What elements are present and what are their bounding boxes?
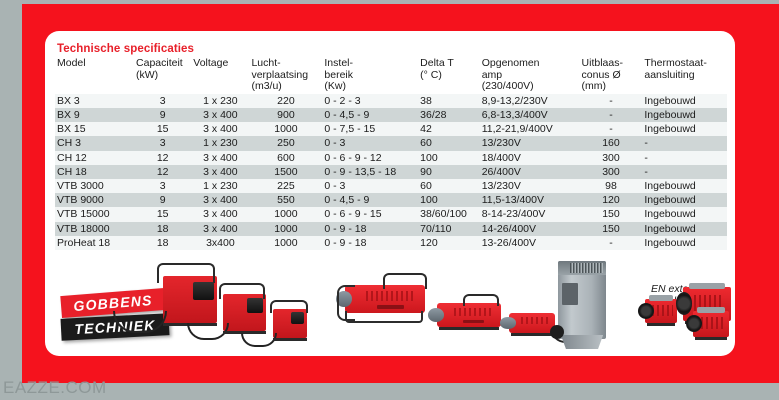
cell-model: BX 15 — [55, 122, 134, 136]
cell-voltage: 3 x 400 — [191, 122, 249, 136]
column-header-voltage: Voltage — [191, 58, 249, 94]
ch-large-badge — [377, 305, 404, 309]
vtb-front-foot — [695, 337, 727, 340]
ch-large-handle — [383, 273, 427, 289]
cell-uitblaasconus: 98 — [580, 179, 643, 193]
cell-delta-t: 100 — [418, 193, 480, 207]
ch-small-vents — [521, 317, 550, 324]
cell-uitblaasconus: 300 — [580, 165, 643, 179]
bx-small-handle — [270, 300, 308, 313]
cell-uitblaasconus: 150 — [580, 207, 643, 221]
cell-capaciteit: 9 — [134, 193, 191, 207]
cell-luchtverplaatsing: 1000 — [249, 122, 322, 136]
cell-opgenomen-amp: 13/230V — [480, 179, 580, 193]
cell-capaciteit: 15 — [134, 122, 191, 136]
vtb-left-foot — [647, 323, 675, 326]
table-body: BX 331 x 2302200 - 2 - 3388,9-13,2/230V-… — [55, 94, 727, 250]
vtb-large-fan — [676, 292, 692, 314]
product-ch-medium — [437, 303, 501, 327]
cell-instelbereik: 0 - 9 - 13,5 - 18 — [322, 165, 418, 179]
bx-small-foot — [273, 338, 307, 341]
cell-delta-t: 60 — [418, 179, 480, 193]
column-header-thermostaataansluiting: Thermostaat- aansluiting — [642, 58, 727, 94]
cell-capaciteit: 15 — [134, 207, 191, 221]
cell-opgenomen-amp: 8,9-13,2/230V — [480, 94, 580, 108]
cell-opgenomen-amp: 26/400V — [480, 165, 580, 179]
table-row: BX 15153 x 40010000 - 7,5 - 154211,2-21,… — [55, 122, 727, 136]
cell-luchtverplaatsing: 1000 — [249, 236, 322, 250]
cell-instelbereik: 0 - 7,5 - 15 — [322, 122, 418, 136]
cell-voltage: 1 x 230 — [191, 136, 249, 150]
product-bx-large — [163, 276, 217, 323]
ch-large-vents — [366, 291, 416, 301]
cell-uitblaasconus: - — [580, 108, 643, 122]
cell-voltage: 1 x 230 — [191, 94, 249, 108]
column-header-model: Model — [55, 58, 134, 94]
cell-thermostaataansluiting: Ingebouwd — [642, 207, 727, 221]
table-row: CH 18123 x 40015000 - 9 - 13,5 - 189026/… — [55, 165, 727, 179]
cell-thermostaataansluiting: Ingebouwd — [642, 122, 727, 136]
table-header-row: Model Capaciteit (kW) Voltage Lucht- ver… — [55, 58, 727, 94]
cell-delta-t: 38/60/100 — [418, 207, 480, 221]
column-header-capaciteit: Capaciteit (kW) — [134, 58, 191, 94]
cell-instelbereik: 0 - 3 — [322, 179, 418, 193]
page-root: Technische specificaties Model Capacitei… — [0, 0, 779, 400]
cell-model: CH 18 — [55, 165, 134, 179]
cell-capaciteit: 12 — [134, 151, 191, 165]
product-ch-large — [345, 285, 425, 313]
cell-capaciteit: 18 — [134, 236, 191, 250]
cell-capaciteit: 3 — [134, 179, 191, 193]
ch-large-stand-base — [345, 311, 423, 323]
cell-voltage: 3x400 — [191, 236, 249, 250]
cell-model: CH 12 — [55, 151, 134, 165]
content-panel: Technische specificaties Model Capacitei… — [45, 31, 735, 356]
cell-delta-t: 100 — [418, 151, 480, 165]
column-header-instelbereik: Instel- bereik (Kw) — [322, 58, 418, 94]
cell-thermostaataansluiting: Ingebouwd — [642, 193, 727, 207]
cell-opgenomen-amp: 13-26/400V — [480, 236, 580, 250]
cell-voltage: 3 x 400 — [191, 193, 249, 207]
bx-small-cord — [241, 333, 277, 347]
cell-luchtverplaatsing: 225 — [249, 179, 322, 193]
bx-large-cord — [113, 311, 167, 333]
cell-delta-t: 70/110 — [418, 222, 480, 236]
vtb-large-rail — [689, 283, 725, 289]
cell-instelbereik: 0 - 4,5 - 9 — [322, 193, 418, 207]
cell-opgenomen-amp: 8-14-23/400V — [480, 207, 580, 221]
product-ch-small — [509, 313, 555, 333]
cell-instelbereik: 0 - 4,5 - 9 — [322, 108, 418, 122]
cell-thermostaataansluiting: Ingebouwd — [642, 179, 727, 193]
cell-thermostaataansluiting: - — [642, 136, 727, 150]
cell-delta-t: 42 — [418, 122, 480, 136]
cell-opgenomen-amp: 18/400V — [480, 151, 580, 165]
cell-capaciteit: 9 — [134, 108, 191, 122]
table-row: BX 993 x 4009000 - 4,5 - 936/286,8-13,3/… — [55, 108, 727, 122]
cell-uitblaasconus: - — [580, 94, 643, 108]
vtb-left-rail — [649, 295, 673, 301]
cell-instelbereik: 0 - 6 - 9 - 12 — [322, 151, 418, 165]
ch-medium-foot — [439, 327, 499, 330]
product-vtb-front — [693, 311, 729, 337]
page-title: Technische specificaties — [57, 43, 194, 55]
vtb-front-rail — [697, 307, 724, 313]
vtb-left-fan — [638, 303, 654, 319]
column-header-uitblaasconus: Uitblaas- conus Ø (mm) — [580, 58, 643, 94]
cell-opgenomen-amp: 14-26/400V — [480, 222, 580, 236]
cell-voltage: 1 x 230 — [191, 179, 249, 193]
cell-opgenomen-amp: 13/230V — [480, 136, 580, 150]
cell-thermostaataansluiting: - — [642, 165, 727, 179]
cell-luchtverplaatsing: 1500 — [249, 165, 322, 179]
ch-medium-badge — [463, 320, 485, 323]
cell-capaciteit: 3 — [134, 136, 191, 150]
cell-model: BX 3 — [55, 94, 134, 108]
cell-model: VTB 15000 — [55, 207, 134, 221]
cell-voltage: 3 x 400 — [191, 151, 249, 165]
bx-large-handle — [157, 263, 215, 283]
cell-instelbereik: 0 - 6 - 9 - 15 — [322, 207, 418, 221]
cell-thermostaataansluiting: Ingebouwd — [642, 94, 727, 108]
cell-uitblaasconus: 150 — [580, 222, 643, 236]
cell-luchtverplaatsing: 1000 — [249, 207, 322, 221]
bx-medium-handle — [219, 283, 265, 299]
table-head: Model Capaciteit (kW) Voltage Lucht- ver… — [55, 58, 727, 94]
ch-medium-outlet — [428, 308, 444, 321]
cell-delta-t: 120 — [418, 236, 480, 250]
cell-instelbereik: 0 - 9 - 18 — [322, 222, 418, 236]
cell-luchtverplaatsing: 250 — [249, 136, 322, 150]
cell-voltage: 3 x 400 — [191, 222, 249, 236]
column-header-opgenomen-amp: Opgenomen amp (230/400V) — [480, 58, 580, 94]
cell-delta-t: 90 — [418, 165, 480, 179]
product-proheat-cabinet — [558, 261, 606, 339]
cell-voltage: 3 x 400 — [191, 108, 249, 122]
product-vtb-small-left — [645, 299, 677, 323]
cell-luchtverplaatsing: 220 — [249, 94, 322, 108]
cell-voltage: 3 x 400 — [191, 207, 249, 221]
cell-luchtverplaatsing: 600 — [249, 151, 322, 165]
table-row: VTB 18000183 x 40010000 - 9 - 1870/11014… — [55, 222, 727, 236]
product-bx-medium — [223, 294, 266, 331]
cell-uitblaasconus: - — [580, 236, 643, 250]
vtb-front-vents — [701, 317, 724, 329]
cell-instelbereik: 0 - 9 - 18 — [322, 236, 418, 250]
cell-luchtverplaatsing: 550 — [249, 193, 322, 207]
cell-thermostaataansluiting: - — [642, 151, 727, 165]
cell-uitblaasconus: 160 — [580, 136, 643, 150]
proheat-grille — [570, 263, 603, 273]
table-row: ProHeat 18183x40010000 - 9 - 1812013-26/… — [55, 236, 727, 250]
cell-thermostaataansluiting: Ingebouwd — [642, 236, 727, 250]
table-row: VTB 15000153 x 40010000 - 6 - 9 - 1538/6… — [55, 207, 727, 221]
cell-delta-t: 38 — [418, 94, 480, 108]
cell-model: VTB 18000 — [55, 222, 134, 236]
cell-uitblaasconus: 300 — [580, 151, 643, 165]
product-photo-row — [45, 249, 735, 356]
specifications-table: Model Capaciteit (kW) Voltage Lucht- ver… — [55, 58, 727, 250]
cell-instelbereik: 0 - 2 - 3 — [322, 94, 418, 108]
cell-capaciteit: 3 — [134, 94, 191, 108]
proheat-wheel — [550, 325, 564, 339]
cell-delta-t: 36/28 — [418, 108, 480, 122]
ch-medium-handle — [463, 294, 499, 306]
cell-thermostaataansluiting: Ingebouwd — [642, 222, 727, 236]
table-row: CH 12123 x 4006000 - 6 - 9 - 1210018/400… — [55, 151, 727, 165]
table-row: CH 331 x 2302500 - 36013/230V160- — [55, 136, 727, 150]
proheat-top-panel — [558, 261, 606, 275]
product-bx-small — [273, 309, 307, 338]
cell-opgenomen-amp: 11,5-13/400V — [480, 193, 580, 207]
cell-model: ProHeat 18 — [55, 236, 134, 250]
bx-small-grille — [291, 312, 304, 324]
table-row: VTB 300031 x 2302250 - 36013/230V98Ingeb… — [55, 179, 727, 193]
cell-delta-t: 60 — [418, 136, 480, 150]
bx-large-grille — [193, 282, 214, 301]
cell-luchtverplaatsing: 1000 — [249, 222, 322, 236]
cell-model: VTB 9000 — [55, 193, 134, 207]
table-row: VTB 900093 x 4005500 - 4,5 - 910011,5-13… — [55, 193, 727, 207]
cell-capaciteit: 18 — [134, 222, 191, 236]
proheat-control-hatch — [562, 283, 578, 305]
cell-opgenomen-amp: 6,8-13,3/400V — [480, 108, 580, 122]
cell-luchtverplaatsing: 900 — [249, 108, 322, 122]
cell-capaciteit: 12 — [134, 165, 191, 179]
column-header-luchtverplaatsing: Lucht- verplaatsing (m3/u) — [249, 58, 322, 94]
cell-model: BX 9 — [55, 108, 134, 122]
cell-thermostaataansluiting: Ingebouwd — [642, 108, 727, 122]
ch-small-outlet — [500, 317, 516, 328]
ch-small-foot — [511, 333, 554, 336]
proheat-base-skirt — [561, 335, 603, 349]
table-row: BX 331 x 2302200 - 2 - 3388,9-13,2/230V-… — [55, 94, 727, 108]
cell-instelbereik: 0 - 3 — [322, 136, 418, 150]
cell-model: CH 3 — [55, 136, 134, 150]
cell-voltage: 3 x 400 — [191, 165, 249, 179]
cell-opgenomen-amp: 11,2-21,9/400V — [480, 122, 580, 136]
vtb-left-vents — [652, 305, 672, 316]
bx-medium-grille — [247, 298, 263, 313]
column-header-delta-t: Delta T (° C) — [418, 58, 480, 94]
cell-uitblaasconus: - — [580, 122, 643, 136]
ch-medium-vents — [454, 308, 494, 316]
cell-model: VTB 3000 — [55, 179, 134, 193]
vtb-front-fan — [686, 315, 702, 332]
cell-uitblaasconus: 120 — [580, 193, 643, 207]
watermark: EAZZE.COM — [3, 378, 107, 398]
